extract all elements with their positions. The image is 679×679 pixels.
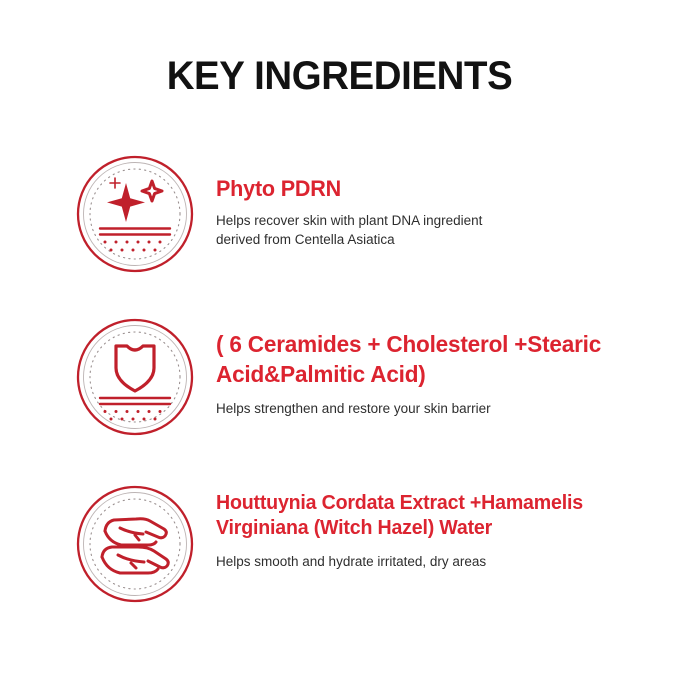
- ingredient-row: ( 6 Ceramides + Cholesterol +Stearic Aci…: [0, 318, 679, 436]
- page-title: KEY INGREDIENTS: [14, 53, 666, 99]
- description-line: Helps smooth and hydrate irritated, dry …: [216, 552, 639, 571]
- ingredient-text: Houttuynia Cordata Extract +Hamamelis Vi…: [216, 485, 679, 571]
- ingredient-name-line: ( 6 Ceramides + Cholesterol: [216, 331, 508, 357]
- ingredient-name: Houttuynia Cordata Extract +Hamamelis Vi…: [216, 491, 631, 541]
- ingredient-description: Helps strengthen and restore your skin b…: [216, 399, 639, 418]
- description-line: Helps recover skin with plant DNA ingred…: [216, 211, 639, 230]
- ingredient-text: Phyto PDRN Helps recover skin with plant…: [216, 155, 679, 249]
- sparkle-skin-layer-icon: [76, 155, 194, 273]
- shield-skin-barrier-icon: [76, 318, 194, 436]
- key-ingredients-panel: KEY INGREDIENTS: [0, 0, 679, 679]
- ingredient-row: Houttuynia Cordata Extract +Hamamelis Vi…: [0, 485, 679, 603]
- ingredient-text: ( 6 Ceramides + Cholesterol +Stearic Aci…: [216, 318, 679, 418]
- ingredient-name: Phyto PDRN: [216, 175, 631, 202]
- ingredient-description: Helps smooth and hydrate irritated, dry …: [216, 552, 639, 571]
- description-line: Helps strengthen and restore your skin b…: [216, 399, 639, 418]
- description-line: derived from Centella Asiatica: [216, 230, 639, 249]
- ingredient-name-line: Houttuynia Cordata Extract: [216, 492, 465, 514]
- caring-hands-icon: [76, 485, 194, 603]
- ingredient-name: ( 6 Ceramides + Cholesterol +Stearic Aci…: [216, 329, 631, 389]
- ingredient-row: Phyto PDRN Helps recover skin with plant…: [0, 155, 679, 273]
- ingredient-name-line: (Witch Hazel) Water: [314, 517, 492, 539]
- ingredient-description: Helps recover skin with plant DNA ingred…: [216, 211, 639, 249]
